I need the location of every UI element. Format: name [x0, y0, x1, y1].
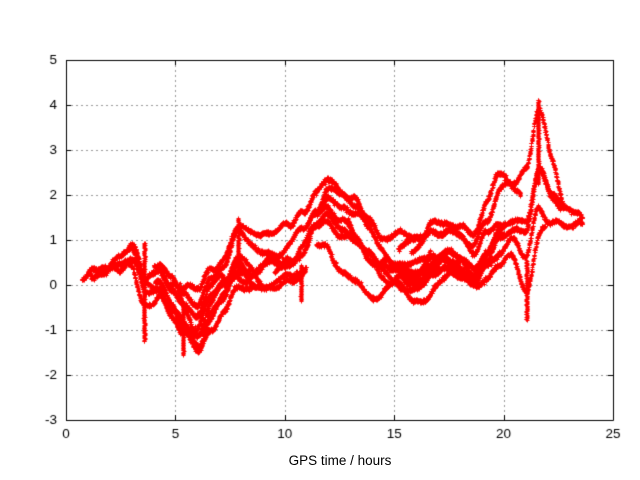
plot-canvas-wrap: [0, 0, 640, 480]
scatter-plot-canvas: [0, 0, 640, 480]
sdtvar-figure: Day 180 of 2021, Sidereal Day-to-day VTE…: [0, 0, 640, 480]
x-axis-label: GPS time / hours: [66, 453, 614, 468]
